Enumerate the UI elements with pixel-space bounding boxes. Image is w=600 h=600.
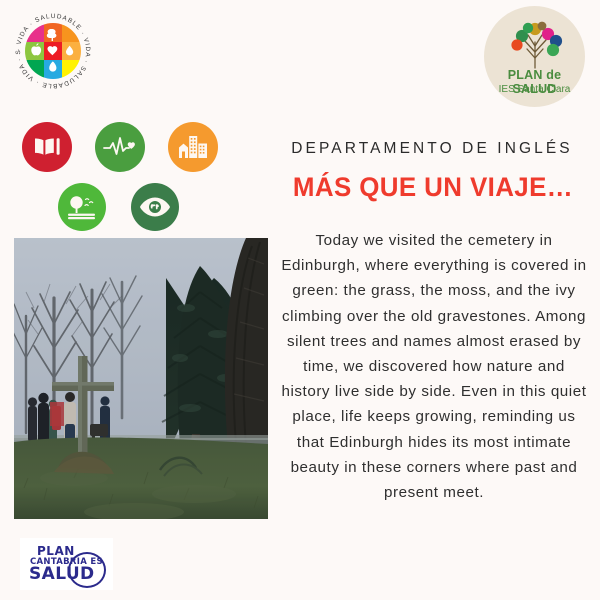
cantabria-logo-line3: SALUD bbox=[29, 564, 95, 584]
park-tree-icon bbox=[58, 183, 106, 231]
page-title: MÁS QUE UN VIAJE… bbox=[275, 172, 592, 203]
book-icon bbox=[22, 122, 72, 172]
plan-de-salud-logo: PLAN de SALUD IES Santa Clara bbox=[484, 6, 585, 107]
plan-cantabria-es-salud-logo: PLAN CANTABRIA ES SALUD bbox=[20, 538, 113, 590]
department-label: DEPARTAMENTO DE INGLÉS bbox=[272, 140, 592, 158]
poster-canvas: · VIDA · SALUDABLE · VIDA · SALUDABLE · … bbox=[0, 0, 600, 600]
body-paragraph: Today we visited the cemetery in Edinbur… bbox=[278, 228, 590, 505]
heartbeat-icon bbox=[95, 122, 145, 172]
plan-logo-subtitle: IES Santa Clara bbox=[484, 84, 585, 95]
tree-icon bbox=[504, 18, 566, 70]
cemetery-photo bbox=[14, 238, 268, 519]
cantabria-logo-line1: PLAN bbox=[37, 544, 75, 558]
eye-globe-icon bbox=[131, 183, 179, 231]
vida-color-wheel bbox=[25, 23, 81, 79]
city-buildings-icon bbox=[168, 122, 218, 172]
vida-saludable-badge: · VIDA · SALUDABLE · VIDA · SALUDABLE · … bbox=[12, 10, 94, 92]
